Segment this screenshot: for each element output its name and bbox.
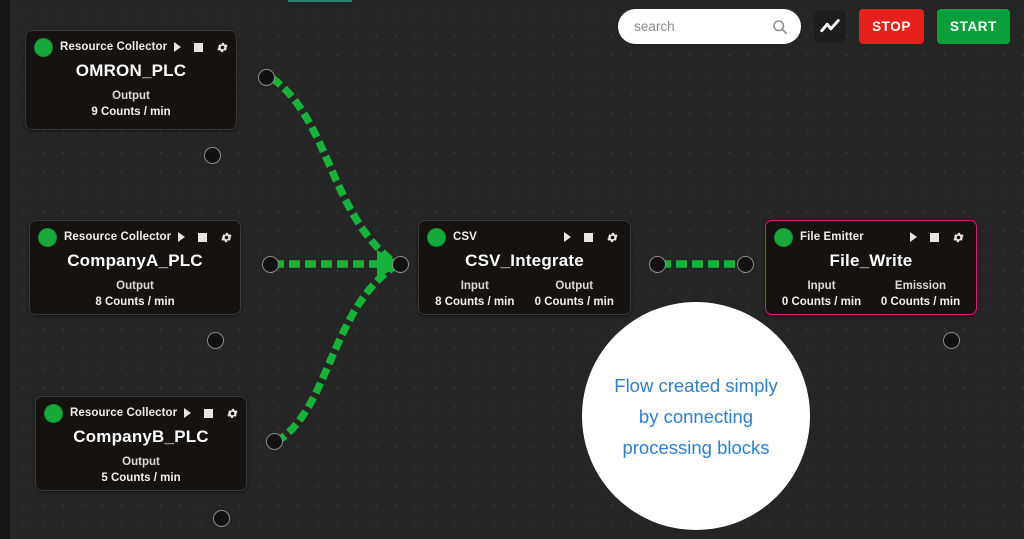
- link-omron-to-csv[interactable]: [272, 78, 395, 263]
- port-orphan-upper-left[interactable]: [204, 147, 221, 164]
- start-button[interactable]: START: [937, 9, 1010, 44]
- callout-line-3: processing blocks: [622, 432, 769, 463]
- stop-button[interactable]: STOP: [859, 9, 924, 44]
- port-filewrite-input[interactable]: [737, 256, 754, 273]
- callout-bubble: Flow created simply by connecting proces…: [582, 302, 810, 530]
- toolbar: STOP START: [618, 9, 1010, 44]
- search-box[interactable]: [618, 9, 801, 44]
- port-csv-input[interactable]: [392, 256, 409, 273]
- callout-line-1: Flow created simply: [614, 370, 777, 401]
- flow-editor-window: Resource Collector OMRON_PLC Output 9 Co…: [0, 0, 1024, 539]
- port-orphan-right[interactable]: [943, 332, 960, 349]
- port-omron-output[interactable]: [258, 69, 275, 86]
- port-companya-output[interactable]: [262, 256, 279, 273]
- connection-layer: [0, 0, 1024, 539]
- callout-line-2: by connecting: [639, 401, 753, 432]
- port-orphan-lower-left[interactable]: [213, 510, 230, 527]
- port-companyb-output[interactable]: [266, 433, 283, 450]
- port-csv-output[interactable]: [649, 256, 666, 273]
- search-icon[interactable]: [771, 18, 789, 36]
- search-input[interactable]: [634, 19, 771, 34]
- link-companyb-to-csv[interactable]: [276, 266, 395, 442]
- port-orphan-mid-left[interactable]: [207, 332, 224, 349]
- line-chart-icon[interactable]: [814, 11, 846, 43]
